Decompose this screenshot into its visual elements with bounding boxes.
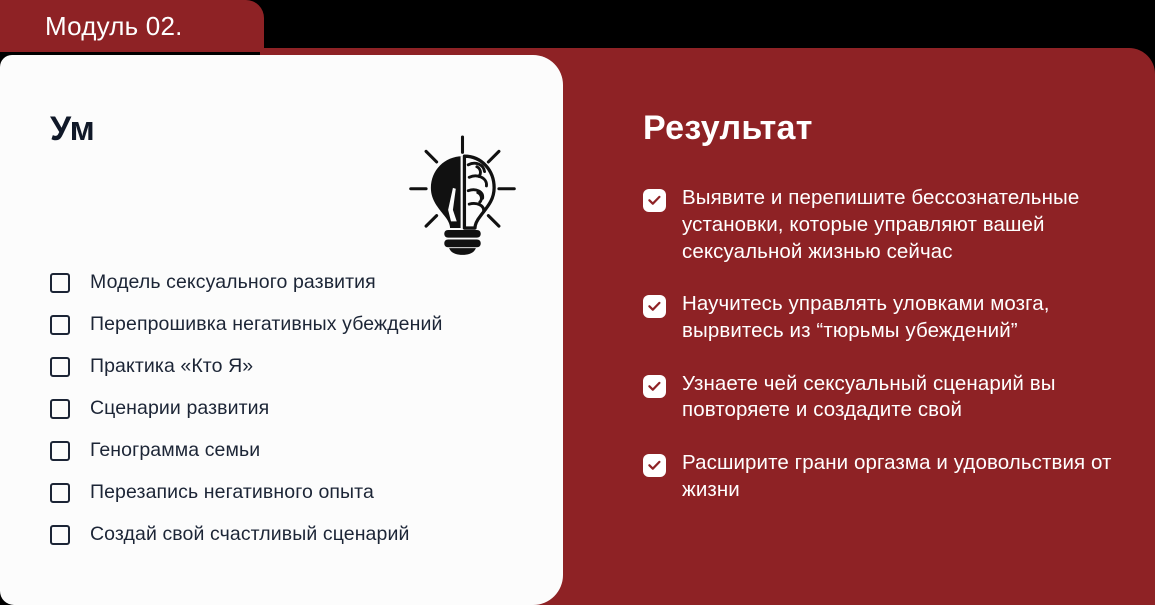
checkbox-checked-icon[interactable]	[643, 375, 666, 398]
module-tab-label: Модуль 02.	[45, 13, 183, 39]
mind-item-label: Перезапись негативного опыта	[90, 481, 374, 504]
checkbox-checked-icon[interactable]	[643, 295, 666, 318]
mind-list-item[interactable]: Модель сексуального развития	[50, 262, 540, 304]
module-tab[interactable]: Модуль 02.	[0, 0, 264, 52]
checkbox-unchecked-icon[interactable]	[50, 315, 70, 335]
result-list-item[interactable]: Выявите и перепишите бессознательные уст…	[643, 185, 1148, 265]
result-list-item[interactable]: Узнаете чей сексуальный сценарий вы повт…	[643, 371, 1148, 424]
mind-item-label: Генограмма семьи	[90, 439, 260, 462]
checkbox-unchecked-icon[interactable]	[50, 357, 70, 377]
mind-list-item[interactable]: Перезапись негативного опыта	[50, 472, 540, 514]
mind-item-label: Создай свой счастливый сценарий	[90, 523, 409, 546]
mind-item-label: Практика «Кто Я»	[90, 355, 253, 378]
mind-item-label: Модель сексуального развития	[90, 271, 376, 294]
slide-root: Модуль 02. Результат Выявите и перепишит…	[0, 0, 1155, 605]
checkbox-checked-icon[interactable]	[643, 189, 666, 212]
result-title: Результат	[643, 110, 1148, 147]
checkbox-unchecked-icon[interactable]	[50, 399, 70, 419]
checkbox-unchecked-icon[interactable]	[50, 441, 70, 461]
result-content: Результат Выявите и перепишите бессознат…	[643, 110, 1148, 503]
result-item-label: Научитесь управлять уловками мозга, вырв…	[682, 291, 1148, 344]
mind-title: Ум	[50, 111, 95, 148]
checkbox-unchecked-icon[interactable]	[50, 525, 70, 545]
mind-list-item[interactable]: Генограмма семьи	[50, 430, 540, 472]
mind-card: Ум	[0, 55, 563, 605]
result-item-label: Узнаете чей сексуальный сценарий вы повт…	[682, 371, 1148, 424]
result-item-label: Расширите грани оргазма и удовольствия о…	[682, 450, 1148, 503]
checkbox-unchecked-icon[interactable]	[50, 483, 70, 503]
mind-list-item[interactable]: Сценарии развития	[50, 388, 540, 430]
mind-item-label: Перепрошивка негативных убеждений	[90, 313, 442, 336]
checkbox-unchecked-icon[interactable]	[50, 273, 70, 293]
checkbox-checked-icon[interactable]	[643, 454, 666, 477]
mind-list-item[interactable]: Практика «Кто Я»	[50, 346, 540, 388]
result-list: Выявите и перепишите бессознательные уст…	[643, 185, 1148, 503]
mind-list-item[interactable]: Создай свой счастливый сценарий	[50, 514, 540, 556]
mind-list-item[interactable]: Перепрошивка негативных убеждений	[50, 304, 540, 346]
result-list-item[interactable]: Расширите грани оргазма и удовольствия о…	[643, 450, 1148, 503]
result-item-label: Выявите и перепишите бессознательные уст…	[682, 185, 1148, 265]
mind-list: Модель сексуального развитияПерепрошивка…	[50, 262, 540, 556]
mind-item-label: Сценарии развития	[90, 397, 269, 420]
lightbulb-brain-icon	[405, 135, 520, 255]
result-list-item[interactable]: Научитесь управлять уловками мозга, вырв…	[643, 291, 1148, 344]
